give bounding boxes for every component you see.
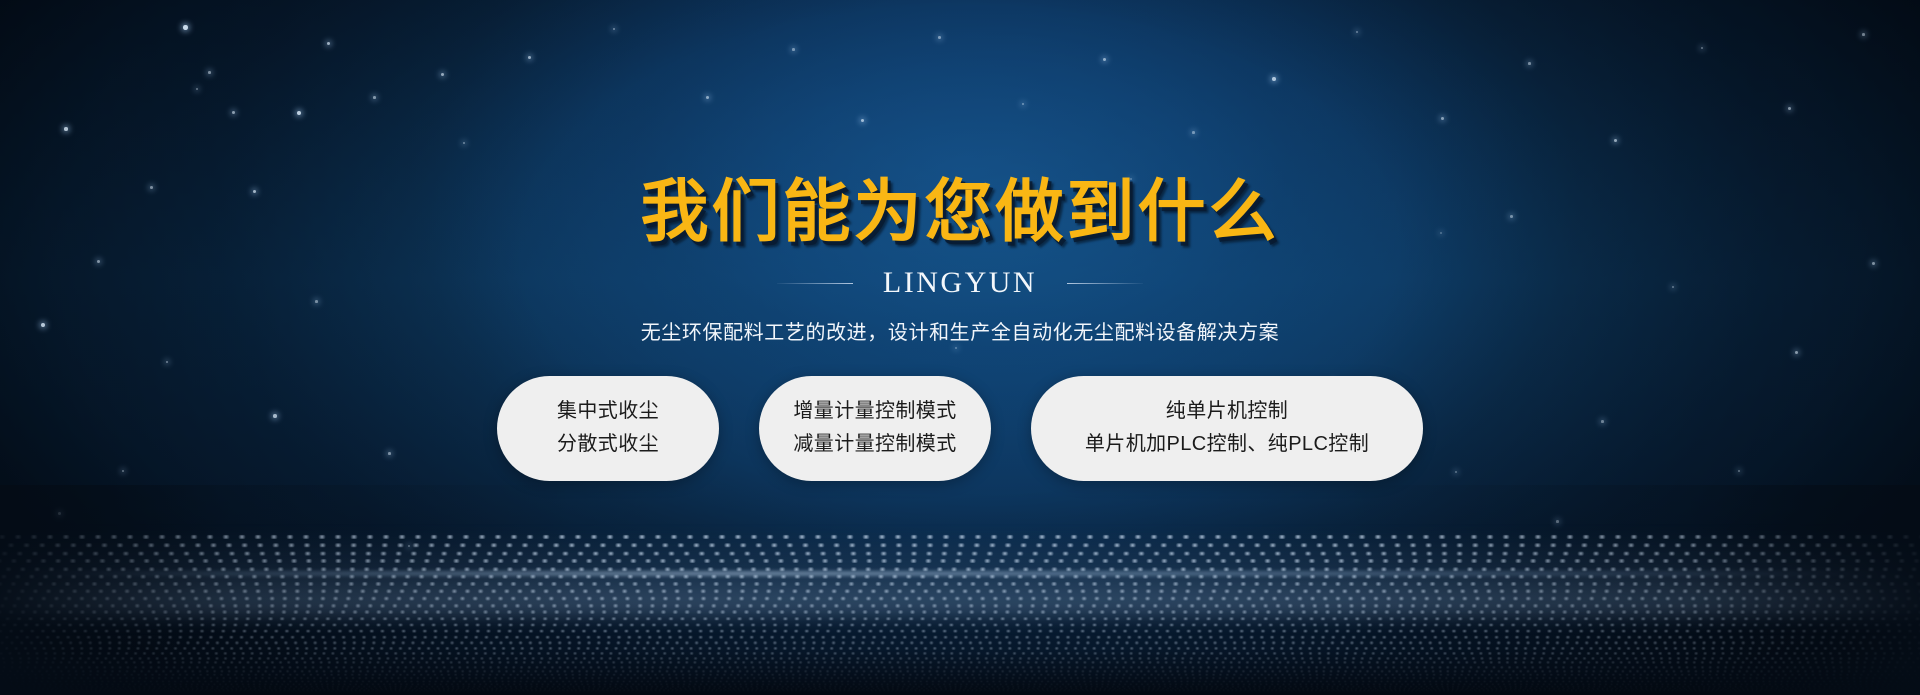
divider-line-right	[1067, 283, 1143, 284]
feature-card-line: 集中式收尘	[557, 401, 659, 421]
feature-card[interactable]: 增量计量控制模式减量计量控制模式	[759, 376, 991, 481]
page-subtitle: 无尘环保配料工艺的改进，设计和生产全自动化无尘配料设备解决方案	[641, 321, 1280, 345]
feature-card-line: 增量计量控制模式	[793, 401, 956, 421]
hero-banner: 我们能为您做到什么 LINGYUN 无尘环保配料工艺的改进，设计和生产全自动化无…	[0, 0, 1920, 695]
feature-card-line: 分散式收尘	[557, 434, 659, 454]
brand-eyebrow-row: LINGYUN	[777, 268, 1143, 298]
divider-line-left	[777, 283, 853, 284]
page-title: 我们能为您做到什么	[640, 178, 1279, 246]
feature-card-line: 减量计量控制模式	[793, 434, 956, 454]
feature-card[interactable]: 集中式收尘分散式收尘	[497, 376, 719, 481]
feature-card[interactable]: 纯单片机控制单片机加PLC控制、纯PLC控制	[1031, 376, 1423, 481]
banner-content: 我们能为您做到什么 LINGYUN 无尘环保配料工艺的改进，设计和生产全自动化无…	[0, 0, 1920, 695]
feature-card-line: 纯单片机控制	[1166, 401, 1288, 421]
feature-card-list: 集中式收尘分散式收尘增量计量控制模式减量计量控制模式纯单片机控制单片机加PLC控…	[497, 376, 1423, 481]
feature-card-line: 单片机加PLC控制、纯PLC控制	[1085, 434, 1369, 454]
brand-name: LINGYUN	[883, 268, 1037, 298]
